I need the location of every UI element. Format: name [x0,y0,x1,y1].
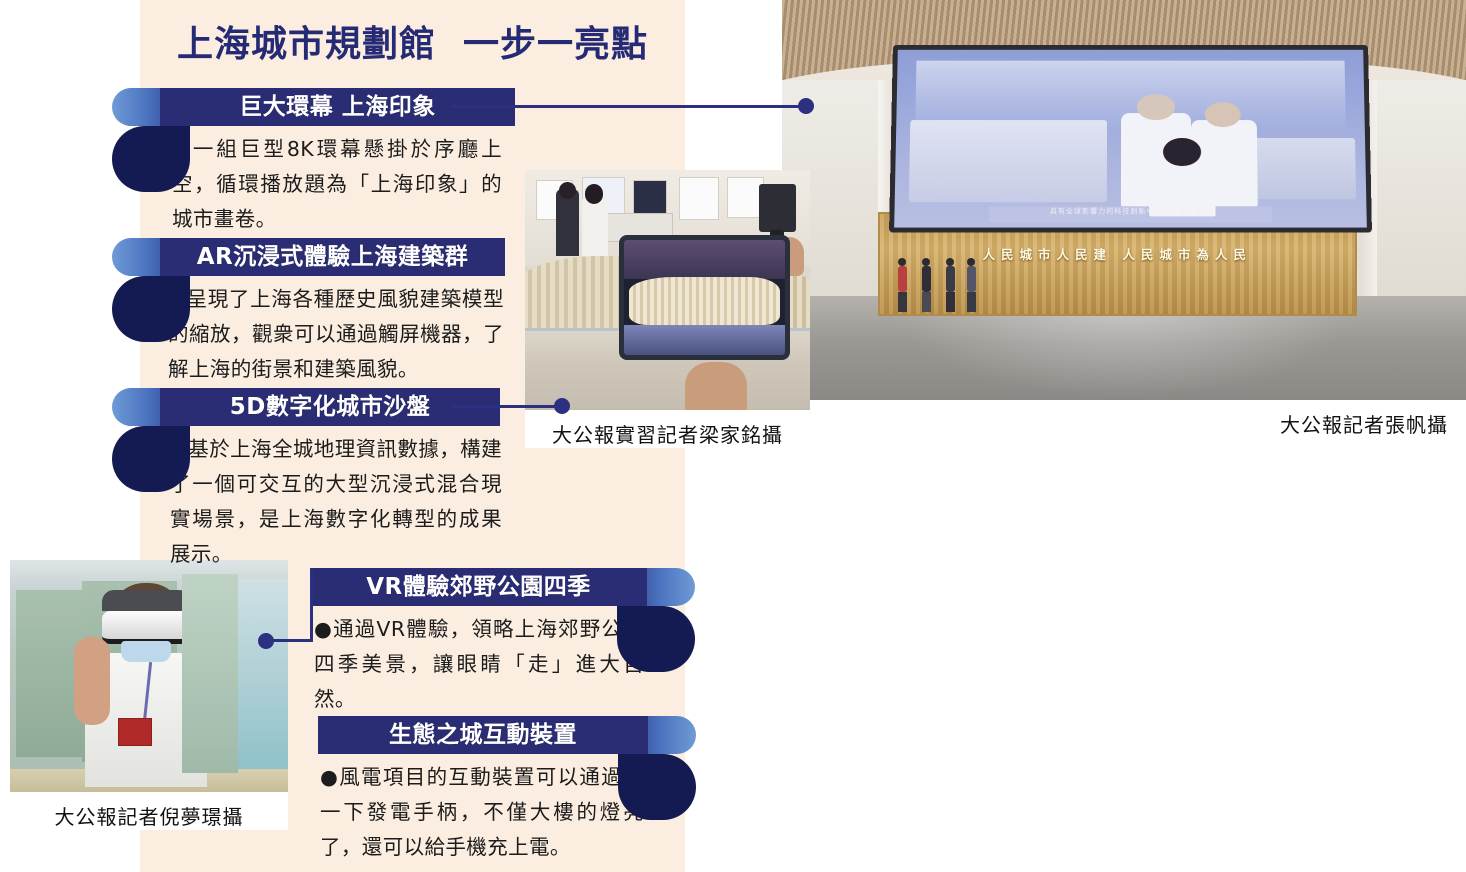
band-tab-right [617,606,695,672]
hall-floor-reflection [891,304,1356,400]
vr-headset-strap [102,590,191,611]
photo-card-hall: 人民城市人民建 人民城市為人民 具有全球影響力的科技創新中心形成基本框架 [782,0,1466,438]
band-eco-city: 生態之城互動裝置 [318,716,648,754]
connector-dot [258,633,274,649]
band-bar: VR體驗郊野公園四季 [310,568,647,606]
ar-visitor-b [582,196,608,263]
body-text-vr-park: ●通過VR體驗，領略上海郊野公園四季美景，讓眼睛「走」進大自然。 [314,606,644,717]
body-text-5d-sandtable: ●基於上海全城地理資訊數據，構建了一個可交互的大型沉浸式混合現實場景，是上海數字… [170,426,502,572]
ar-tablet-city-overlay [629,277,780,325]
band-tab-left [112,276,190,342]
ar-visitor-b-head [585,184,604,203]
photo-tablet-ar [525,170,810,410]
ar-tablet-device [619,235,790,360]
hall-visitor [946,258,955,312]
page-title: 上海城市規劃館 一步一亮點 [140,22,685,67]
photo-card-vr: 大公報記者倪夢璟攝 [10,560,288,830]
band-tab-right [618,754,696,820]
infographic-canvas: 人民城市人民建 人民城市為人民 具有全球影響力的科技創新中心形成基本框架 [0,0,1466,872]
vr-user-arm-left [74,637,110,725]
ar-wall-poster [679,177,719,220]
ar-visitor-a [556,189,579,256]
ar-wall-poster [633,180,667,216]
band-ar-architecture: AR沉浸式體驗上海建築群 [160,238,505,276]
info-block-5d-sandtable: 5D數字化城市沙盤 ●基於上海全城地理資訊數據，構建了一個可交互的大型沉浸式混合… [160,388,500,572]
band-tab-left [112,426,190,492]
band-title: 5D數字化城市沙盤 [230,396,431,419]
band-title: 巨大環幕 上海印象 [239,96,436,119]
screen-subtitle-text: 具有全球影響力的科技創新中心形成基本框架 [989,206,1272,222]
hall-curved-led-screen: 具有全球影響力的科技創新中心形成基本框架 [889,45,1372,233]
hall-visitor [922,258,931,312]
vr-headset-device [102,611,194,643]
band-5d-sandtable: 5D數字化城市沙盤 [160,388,500,426]
hall-visitor [967,258,976,312]
band-bar: 5D數字化城市沙盤 [160,388,500,426]
info-block-eco-city: 生態之城互動裝置 ●風電項目的互動裝置可以通過搖一下發電手柄，不僅大樓的燈亮了，… [318,716,648,865]
band-tab-left [112,126,190,192]
vr-face-mask [121,641,171,662]
connector-line-vertical [310,570,313,642]
connector-5d-sandtable [452,395,582,419]
connector-dot [554,398,570,414]
connector-line [452,105,806,108]
ar-tablet-river [624,325,785,355]
caption-hall: 大公報記者張帆攝 [782,400,1466,438]
band-vr-park: VR體驗郊野公園四季 [310,568,647,606]
band-bar: AR沉浸式體驗上海建築群 [160,238,505,276]
screen-lab-bench-left [909,120,1107,202]
band-title: 生態之城互動裝置 [389,724,577,747]
ar-tablet-screen-upper [624,240,785,279]
photo-hall: 人民城市人民建 人民城市為人民 具有全球影響力的科技創新中心形成基本框架 [782,0,1466,400]
connector-line [452,405,562,408]
body-text-ar-architecture: ●呈現了上海各種歷史風貌建築模型的縮放，觀衆可以通過觸屏機器，了解上海的街景和建… [168,276,504,387]
band-bar: 生態之城互動裝置 [318,716,648,754]
body-text-giant-screen: ●一組巨型8K環幕懸掛於序廳上空，循環播放題為「上海印象」的城市畫卷。 [172,126,502,237]
ar-visitor-a-head [559,182,576,199]
photo-vr-headset [10,560,288,792]
connector-giant-screen [452,95,822,119]
vr-booth-panel-right [182,574,238,774]
vr-name-badge [118,718,151,746]
info-block-ar-architecture: AR沉浸式體驗上海建築群 ●呈現了上海各種歷史風貌建築模型的縮放，觀衆可以通過觸… [160,238,505,387]
hall-visitor [898,258,907,312]
info-block-vr-park: VR體驗郊野公園四季 ●通過VR體驗，領略上海郊野公園四季美景，讓眼睛「走」進大… [310,568,647,717]
band-title: VR體驗郊野公園四季 [366,576,591,599]
ar-camera-rig [759,184,796,232]
ar-hand-lower [685,362,748,410]
band-title: AR沉浸式體驗上海建築群 [197,246,469,269]
connector-vr-park [258,570,348,650]
connector-dot [798,98,814,114]
caption-vr: 大公報記者倪夢璟攝 [10,792,288,830]
body-text-eco-city: ●風電項目的互動裝置可以通過搖一下發電手柄，不僅大樓的燈亮了，還可以給手機充上電… [320,754,644,865]
